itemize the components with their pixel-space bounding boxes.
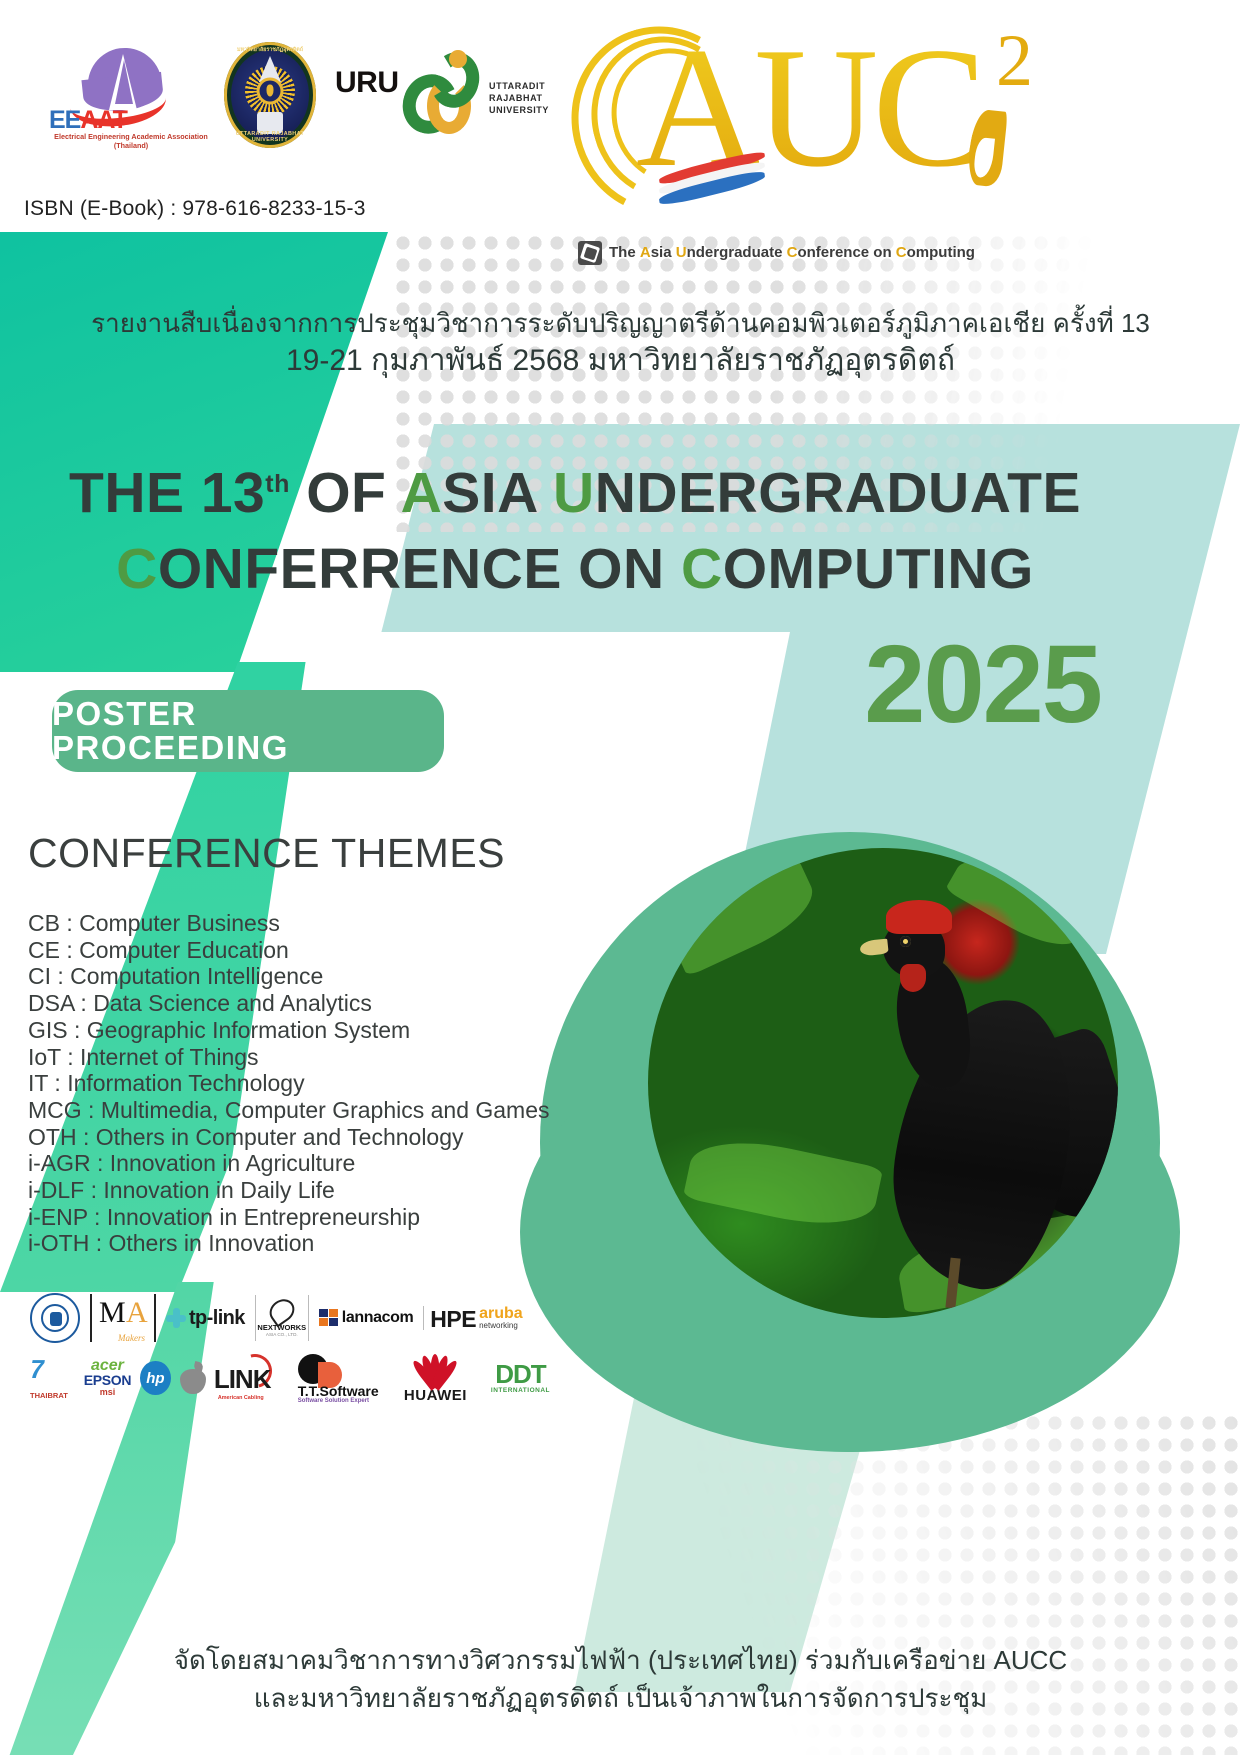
title-ordinal-suffix: th (265, 470, 290, 498)
title-omputing: OMPUTING (723, 537, 1034, 601)
partner-logos-row: EEAAT Electrical Engineering Academic As… (0, 28, 560, 148)
seal-emblem (260, 80, 281, 101)
uru-knot-icon (401, 48, 485, 140)
ddt-sub: INTERNATIONAL (491, 1387, 550, 1395)
sponsor-link-logo: LINK American Cabling (212, 1356, 289, 1400)
foliage-shape (683, 1129, 883, 1237)
title-line-1: THE 13th OF ASIA UNDERGRADUATE (0, 455, 1150, 531)
sponsor-logos: M A Makers tp-link NEXTWORKS ASIA CO., L… (30, 1290, 550, 1406)
tplink-wordmark: tp-link (189, 1308, 245, 1328)
conference-theme-item: OTH : Others in Computer and Technology (28, 1124, 550, 1151)
poster-proceeding-label: POSTER PROCEEDING (52, 697, 444, 765)
sponsor-hpe-aruba-logo: HPE aruba networking (423, 1306, 522, 1330)
conference-theme-item: i-OTH : Others in Innovation (28, 1230, 550, 1257)
hpe-wordmark: HPE (430, 1308, 476, 1330)
sponsor-row-1: M A Makers tp-link NEXTWORKS ASIA CO., L… (30, 1290, 550, 1346)
ma-letter-a: A (126, 1298, 148, 1328)
ddt-wordmark: DDT (495, 1361, 545, 1387)
title-ndergraduate: NDERGRADUATE (595, 461, 1081, 525)
ttsoftware-sub: Software Solution Expert (298, 1398, 369, 1405)
conference-theme-item: IT : Information Technology (28, 1070, 550, 1097)
link-sub: American Cabling (218, 1395, 264, 1401)
title-c-accent-1: C (116, 537, 158, 601)
huawei-flower-icon (407, 1352, 463, 1388)
title-sia: SIA (442, 461, 553, 525)
seal-text-bottom: UTTARADIT RAJABHAT UNIVERSITY (224, 131, 316, 143)
sponsor-tplink-logo: tp-link (166, 1308, 245, 1328)
rooster-eye (900, 936, 911, 947)
conference-theme-item: IoT : Internet of Things (28, 1044, 550, 1071)
uru-wordmark: URU (335, 68, 399, 98)
uru-knot-gold-dot (449, 50, 467, 68)
tplink-cross-icon (166, 1308, 186, 1328)
thaibrat-mark: 7 (28, 1356, 47, 1382)
sponsor-row-2: 7 THAIBRAT acer EPSON msi hp LINK Americ… (30, 1350, 550, 1406)
sponsor-huawei-logo: HUAWEI (389, 1352, 482, 1404)
thai-header-line-2: 19-21 กุมภาพันธ์ 2568 มหาวิทยาลัยราชภัฏอ… (0, 341, 1241, 381)
conference-year: 2025 (864, 630, 1101, 740)
huawei-wordmark: HUAWEI (404, 1388, 467, 1404)
uru-logo: URU UTTARADIT RAJABHAT UNIVERSITY (335, 46, 525, 150)
lannacom-square-icon (319, 1309, 339, 1327)
conference-theme-item: i-AGR : Innovation in Agriculture (28, 1150, 550, 1177)
nextworks-sub: ASIA CO., LTD. (266, 1332, 298, 1337)
title-a-accent: A (401, 461, 443, 525)
sponsor-thaibrat-logo: 7 THAIBRAT (30, 1356, 75, 1400)
thai-header: รายงานสืบเนื่องจากการประชุมวิชาการระดับป… (0, 305, 1241, 381)
conference-theme-item: GIS : Geographic Information System (28, 1017, 550, 1044)
rooster-comb (886, 900, 952, 934)
title-c-accent-2: C (681, 537, 723, 601)
seal-text-top: มหาวิทยาลัยราชภัฏอุตรดิตถ์ (224, 47, 316, 53)
rooster-wattle (900, 964, 926, 992)
eeaat-subtitle: Electrical Engineering Academic Associat… (47, 132, 215, 150)
conference-theme-item: i-ENP : Innovation in Entrepreneurship (28, 1204, 550, 1231)
conference-theme-item: MCG : Multimedia, Computer Graphics and … (28, 1097, 550, 1124)
title-onferrence-on: ONFERRENCE ON (158, 537, 681, 601)
conference-title: THE 13th OF ASIA UNDERGRADUATE CONFERREN… (0, 455, 1150, 607)
uttaradit-rajabhat-university-seal: มหาวิทยาลัยราชภัฏอุตรดิตถ์ UTTARADIT RAJ… (224, 42, 316, 148)
isbn-text: ISBN (E-Book) : 978-616-8233-15-3 (24, 197, 366, 221)
title-the-13: THE 13 (69, 461, 265, 525)
conference-theme-item: DSA : Data Science and Analytics (28, 990, 550, 1017)
lannacom-wordmark: lannacom (342, 1310, 414, 1326)
sponsor-apple-logo (180, 1362, 203, 1394)
aruba-lockup: aruba networking (479, 1306, 523, 1330)
aruba-wordmark: aruba (479, 1306, 523, 1321)
eeaat-word-aat: AAT (80, 106, 127, 134)
eeaat-wordmark: EEAAT (49, 108, 211, 132)
ma-letter-m: M (99, 1298, 126, 1328)
nextworks-wordmark: NEXTWORKS (257, 1324, 306, 1332)
apple-body-icon (180, 1369, 206, 1394)
sponsor-nextworks-logo: NEXTWORKS ASIA CO., LTD. (255, 1295, 309, 1341)
sponsor-seal-logo (30, 1293, 80, 1343)
sponsor-hp-logo: hp (140, 1361, 170, 1395)
footer-organizers: จัดโดยสมาคมวิชาการทางวิศวกรรมไฟฟ้า (ประเ… (0, 1641, 1241, 1717)
title-of: OF (290, 461, 401, 525)
thai-flag-ribbon (658, 162, 768, 200)
acer-wordmark: acer (91, 1358, 124, 1373)
rooster-photo (648, 848, 1118, 1318)
title-u-accent: U (553, 461, 595, 525)
title-line-2: CONFERRENCE ON COMPUTING (0, 531, 1150, 607)
aucc-book-icon (578, 241, 602, 265)
uru-subtitle: UTTARADIT RAJABHAT UNIVERSITY (489, 80, 569, 116)
ma-makers-sub: Makers (118, 1333, 145, 1343)
aucc-superscript-2: 2 (996, 24, 1033, 98)
aucc-logo: AUC 2 (566, 14, 1086, 234)
poster-proceeding-badge: POSTER PROCEEDING (52, 690, 444, 772)
conference-theme-item: CI : Computation Intelligence (28, 963, 550, 990)
seal-pagoda (259, 56, 281, 82)
conference-theme-item: i-DLF : Innovation in Daily Life (28, 1177, 550, 1204)
conference-themes-list: CB : Computer BusinessCE : Computer Educ… (28, 910, 550, 1257)
conference-theme-item: CE : Computer Education (28, 937, 550, 964)
sponsor-acer-logo: acer EPSON msi (84, 1358, 132, 1398)
footer-line-2: และมหาวิทยาลัยราชภัฏอุตรดิตถ์ เป็นเจ้าภา… (0, 1679, 1241, 1717)
aucc-tagline: The Asia Undergraduate Conference on Com… (578, 240, 1048, 266)
sponsor-lannacom-logo: lannacom (319, 1309, 414, 1327)
conference-themes-section: CONFERENCE THEMES CB : Computer Business… (28, 828, 550, 1257)
sponsor-ddt-logo: DDT INTERNATIONAL (491, 1361, 550, 1395)
thaibrat-wordmark: THAIBRAT (30, 1392, 68, 1400)
eeaat-logo: EEAAT Electrical Engineering Academic As… (45, 46, 215, 146)
eeaat-word-ee: EE (49, 106, 80, 134)
footer-line-1: จัดโดยสมาคมวิชาการทางวิศวกรรมไฟฟ้า (ประเ… (0, 1641, 1241, 1679)
thai-header-line-1: รายงานสืบเนื่องจากการประชุมวิชาการระดับป… (0, 305, 1241, 341)
conference-themes-heading: CONFERENCE THEMES (28, 828, 550, 878)
aruba-networking-sub: networking (479, 1321, 523, 1330)
conference-theme-item: CB : Computer Business (28, 910, 550, 937)
sponsor-ma-makers-logo: M A Makers (90, 1294, 156, 1342)
sponsor-ttsoftware-logo: T.T.Software Software Solution Expert (298, 1354, 380, 1402)
msi-wordmark: msi (100, 1387, 116, 1398)
ttsoftware-wordmark: T.T.Software (298, 1384, 379, 1399)
link-wordmark: LINK (214, 1366, 271, 1392)
epson-wordmark: EPSON (84, 1373, 132, 1387)
aucc-tagline-text: The Asia Undergraduate Conference on Com… (609, 245, 975, 261)
